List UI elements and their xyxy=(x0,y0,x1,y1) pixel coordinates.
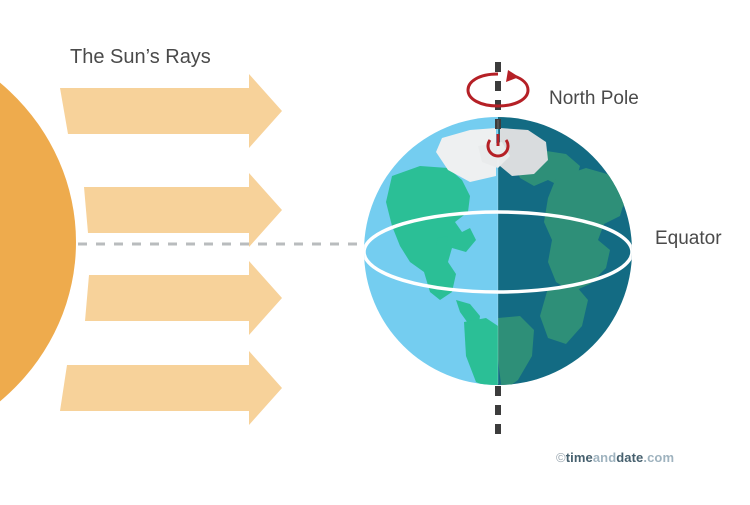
credit-time: time xyxy=(566,450,593,465)
sun-rays-group xyxy=(60,74,282,425)
sun-ray-arrow-icon xyxy=(84,173,282,247)
equator-label: Equator xyxy=(655,228,722,250)
sun-ray-arrow-icon xyxy=(85,261,282,335)
diagram-canvas: The Sun’s Rays North Pole Equator ©timea… xyxy=(0,0,750,500)
sun-ray-arrow-icon xyxy=(60,351,282,425)
credit-domain: .com xyxy=(643,450,674,465)
sun-ray-arrow-icon xyxy=(60,74,282,148)
credit-date: date xyxy=(616,450,643,465)
credit-and: and xyxy=(593,450,616,465)
sun-rays-label: The Sun’s Rays xyxy=(70,46,211,69)
equinox-diagram-svg xyxy=(0,0,750,500)
copyright-watermark: ©timeanddate.com xyxy=(556,450,674,465)
copyright-symbol: © xyxy=(556,450,566,465)
north-pole-label: North Pole xyxy=(549,88,639,110)
